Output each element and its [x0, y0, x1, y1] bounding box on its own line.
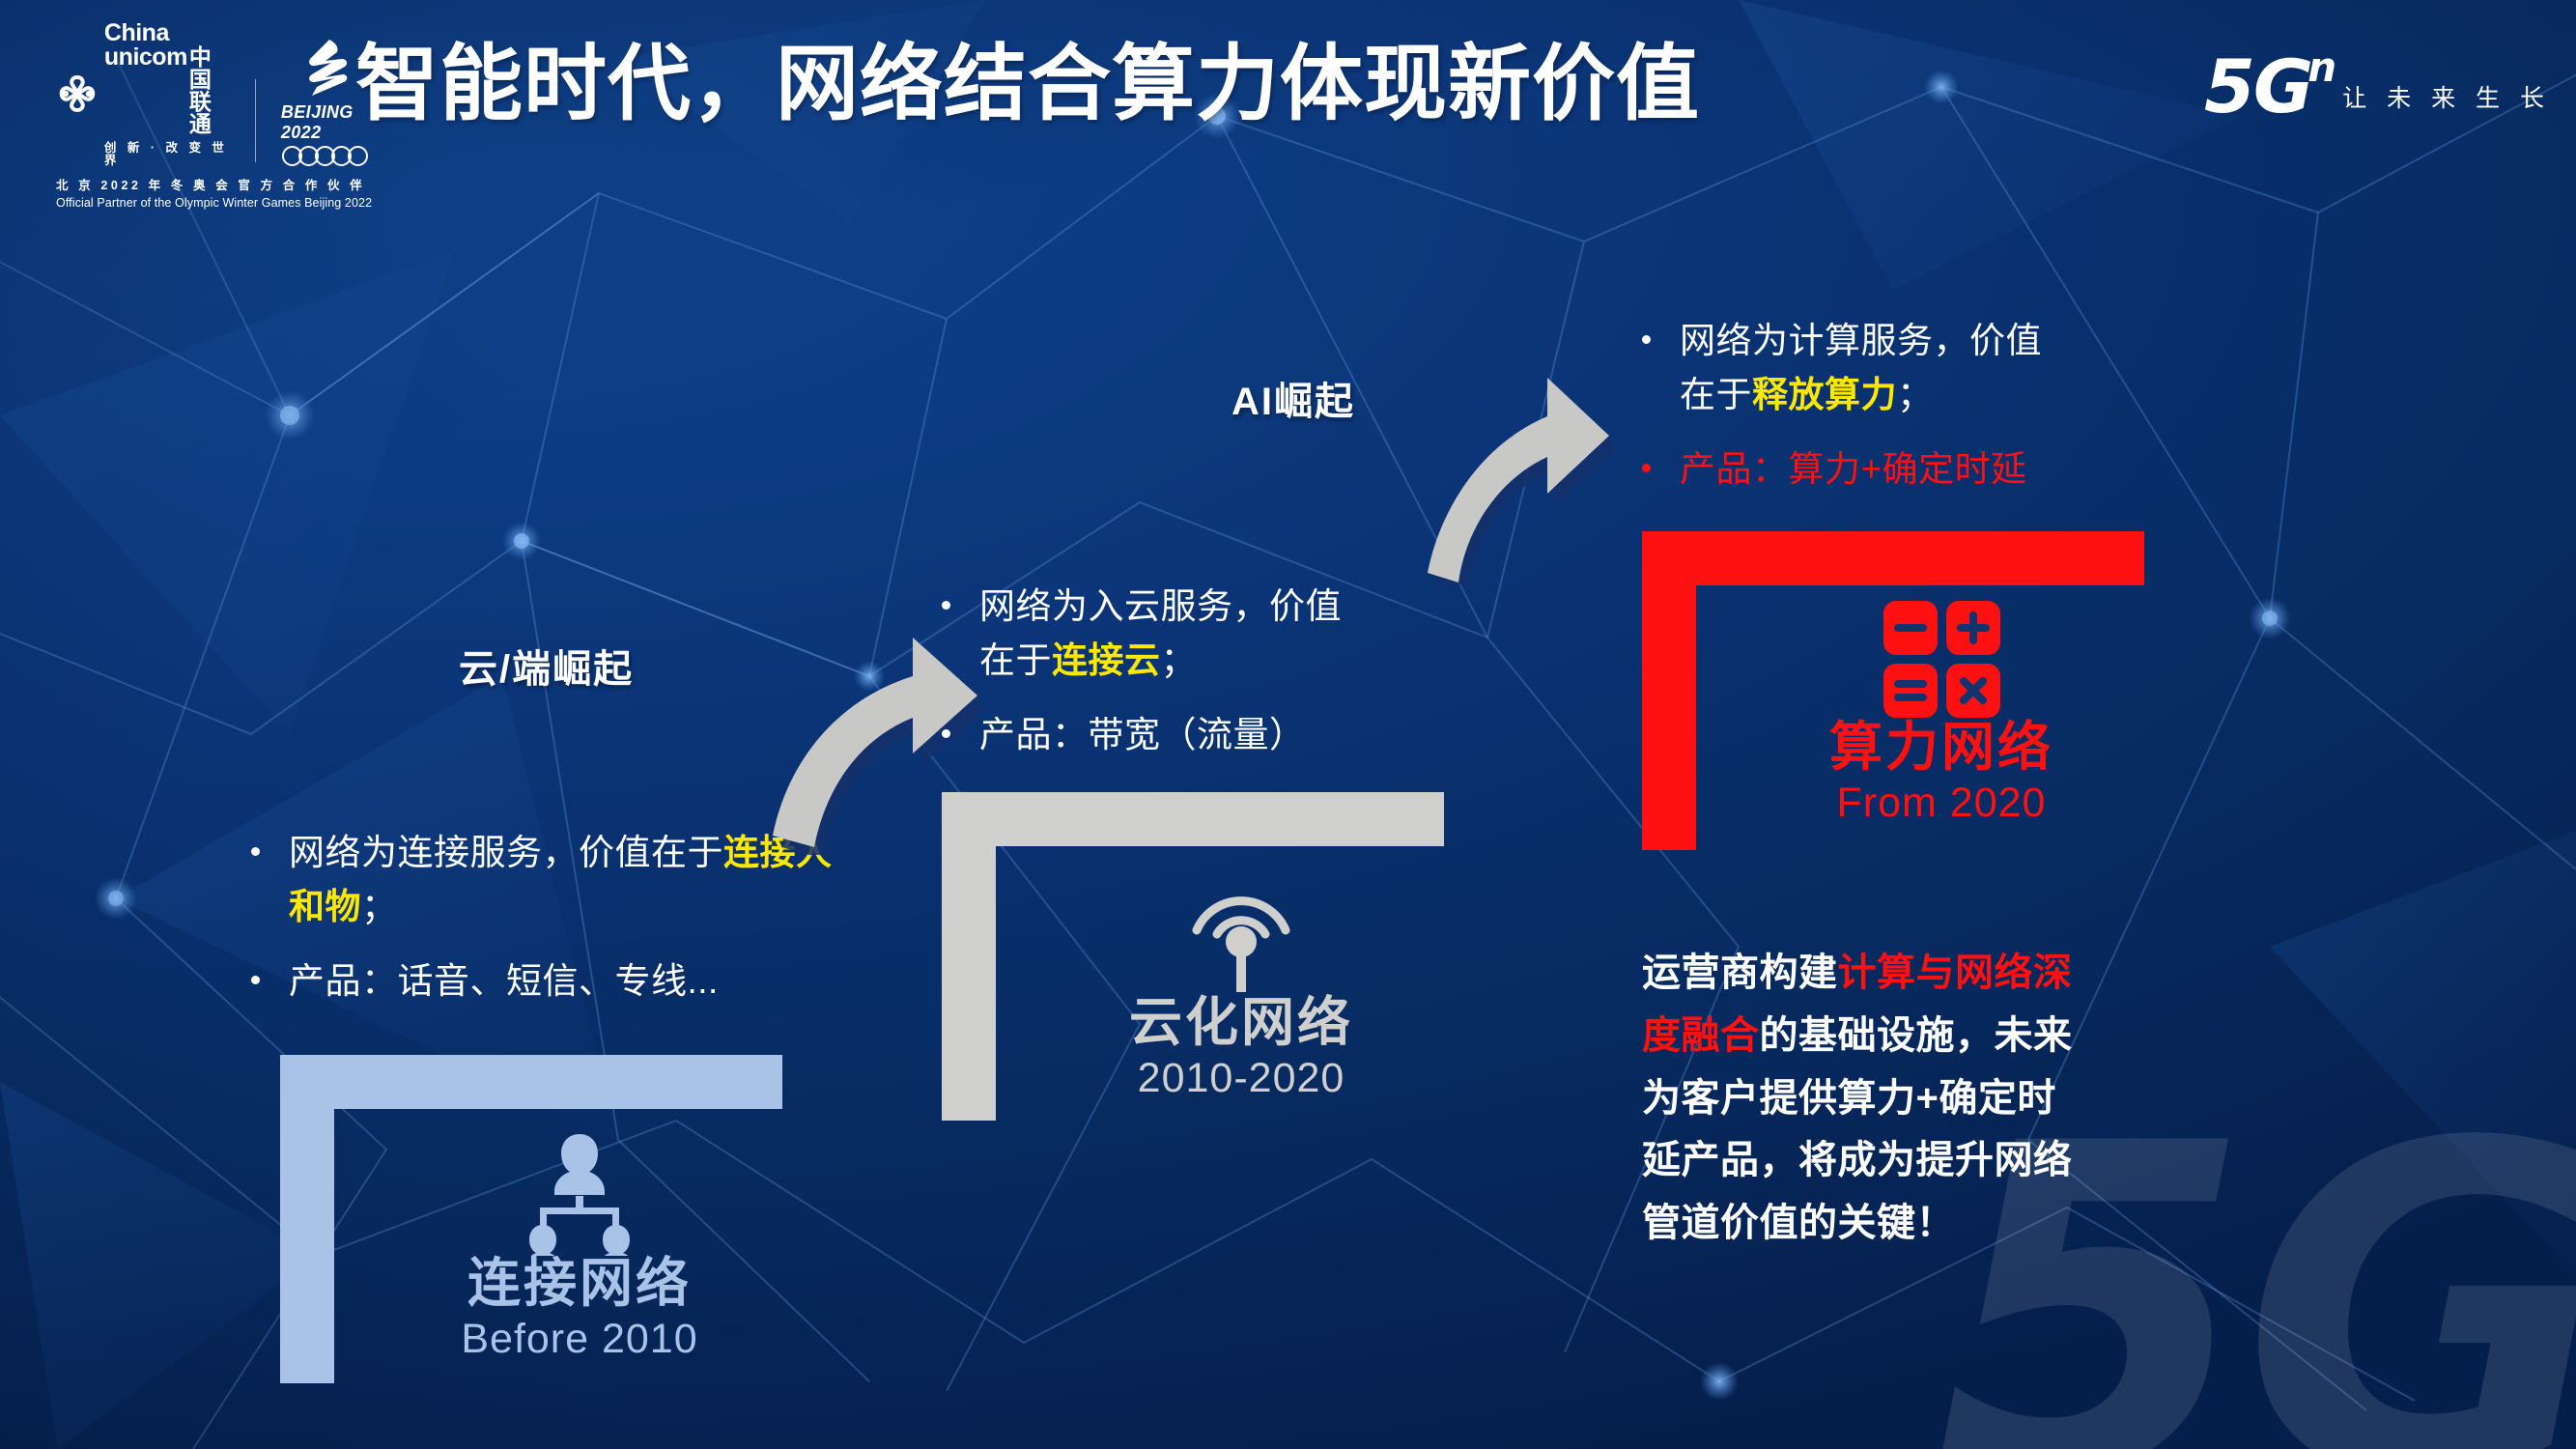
- calculator-icon: [1882, 599, 2002, 720]
- bullet-dot-icon: [251, 847, 260, 856]
- people-network-icon: [507, 1130, 652, 1256]
- stage-name-connect: 连接网络: [467, 1256, 692, 1312]
- beijing-2022-logo: BEIJING 2022: [281, 36, 365, 166]
- partner-statement-cn: 北 京 2022 年 冬 奥 会 官 方 合 作 伙 伴: [56, 175, 365, 193]
- bullet-text: 产品：算力+确定时延: [1680, 442, 2027, 497]
- bullet-group-connect: 网络为连接服务，价值在于连接人和物； 产品：话音、短信、专线...: [251, 826, 850, 1030]
- bullet-item: 产品：带宽（流量）: [942, 708, 1483, 762]
- bullet-text: 网络为入云服务，价值在于连接云；: [979, 580, 1342, 687]
- unicom-knot-icon: [56, 65, 99, 123]
- page-title: 智能时代，网络结合算力体现新价值: [355, 39, 1700, 130]
- unicom-slogan: 创 新 · 改 变 世 界: [104, 142, 230, 166]
- bullet-text: 产品：话音、短信、专线...: [289, 954, 719, 1009]
- unicom-en-line1: China: [104, 21, 230, 45]
- partner-statement-en: Official Partner of the Olympic Winter G…: [56, 196, 365, 210]
- bullet-dot-icon: [942, 729, 950, 738]
- summary-part-5: 为客户提供算力+确定时: [1642, 1077, 2056, 1120]
- bullet-dot-icon: [251, 976, 260, 984]
- brand-5gn-logo: 5G n 让 未 来 生 长: [2204, 50, 2549, 124]
- wifi-tower-icon: [1174, 865, 1309, 995]
- stage-name-computing: 算力网络: [1829, 720, 2053, 776]
- stage-period-cloud: 2010-2020: [1138, 1055, 1345, 1102]
- unicom-cn-name: 中国联通: [189, 46, 230, 135]
- bullet-text: 网络为计算服务，价值在于释放算力；: [1680, 314, 2042, 421]
- slide-canvas: 5G China: [0, 0, 2576, 1449]
- stage-period-connect: Before 2010: [461, 1316, 697, 1363]
- bullet-dot-icon: [942, 601, 950, 610]
- bullet-item: 网络为入云服务，价值在于连接云；: [942, 580, 1483, 687]
- brand-tagline: 让 未 来 生 长: [2342, 79, 2551, 114]
- bullet-item: 网络为计算服务，价值在于释放算力；: [1642, 314, 2202, 421]
- arrow-ai-rise-icon: [1323, 343, 1613, 584]
- arrow-cloud-rise-icon: [580, 594, 985, 855]
- olympic-rings-icon: [282, 146, 364, 166]
- china-unicom-logo: China unicom 中国联通 创 新 · 改 变 世 界: [56, 21, 230, 166]
- beijing-wordmark: BEIJING 2022: [281, 102, 365, 143]
- brand-wordmark: 5G: [2204, 50, 2311, 124]
- stage-name-cloud: 云化网络: [1129, 995, 1353, 1051]
- summary-part-1: 运营商构建: [1642, 952, 1838, 994]
- summary-paragraph: 运营商构建计算与网络深 度融合的基础设施，未来 为客户提供算力+确定时 延产品，…: [1642, 942, 2318, 1255]
- beijing-2022-emblem-icon: [291, 36, 354, 99]
- bullet-item: 产品：话音、短信、专线...: [251, 954, 850, 1009]
- stage-block-connect: 连接网络 Before 2010: [386, 1130, 773, 1363]
- partner-logos: China unicom 中国联通 创 新 · 改 变 世 界: [56, 21, 365, 210]
- bullet-dot-icon: [1642, 335, 1651, 344]
- brand-superscript: n: [2307, 43, 2336, 91]
- stage-block-cloud: 云化网络 2010-2020: [1048, 865, 1434, 1102]
- bullet-group-cloud: 网络为入云服务，价值在于连接云； 产品：带宽（流量）: [942, 580, 1483, 783]
- unicom-en-line2: unicom: [104, 45, 187, 70]
- stage-block-computing: 算力网络 From 2020: [1748, 599, 2135, 827]
- bullet-text: 产品：带宽（流量）: [979, 708, 1306, 762]
- bullet-item: 产品：算力+确定时延: [1642, 442, 2202, 497]
- summary-part-3: 度融合: [1642, 1014, 1760, 1057]
- stage-period-computing: From 2020: [1837, 780, 2047, 827]
- summary-part-4: 的基础设施，未来: [1760, 1014, 2073, 1057]
- summary-part-6: 延产品，将成为提升网络: [1642, 1139, 2073, 1181]
- summary-part-2: 计算与网络深: [1838, 952, 2073, 994]
- partner-statement: 北 京 2022 年 冬 奥 会 官 方 合 作 伙 伴 Official Pa…: [56, 175, 365, 210]
- summary-part-7: 管道价值的关键！: [1642, 1202, 1955, 1244]
- bullet-dot-icon: [1642, 464, 1651, 472]
- bullet-group-computing: 网络为计算服务，价值在于释放算力； 产品：算力+确定时延: [1642, 314, 2202, 518]
- logo-divider: [255, 79, 256, 162]
- slide-header: China unicom 中国联通 创 新 · 改 变 世 界: [0, 0, 2576, 203]
